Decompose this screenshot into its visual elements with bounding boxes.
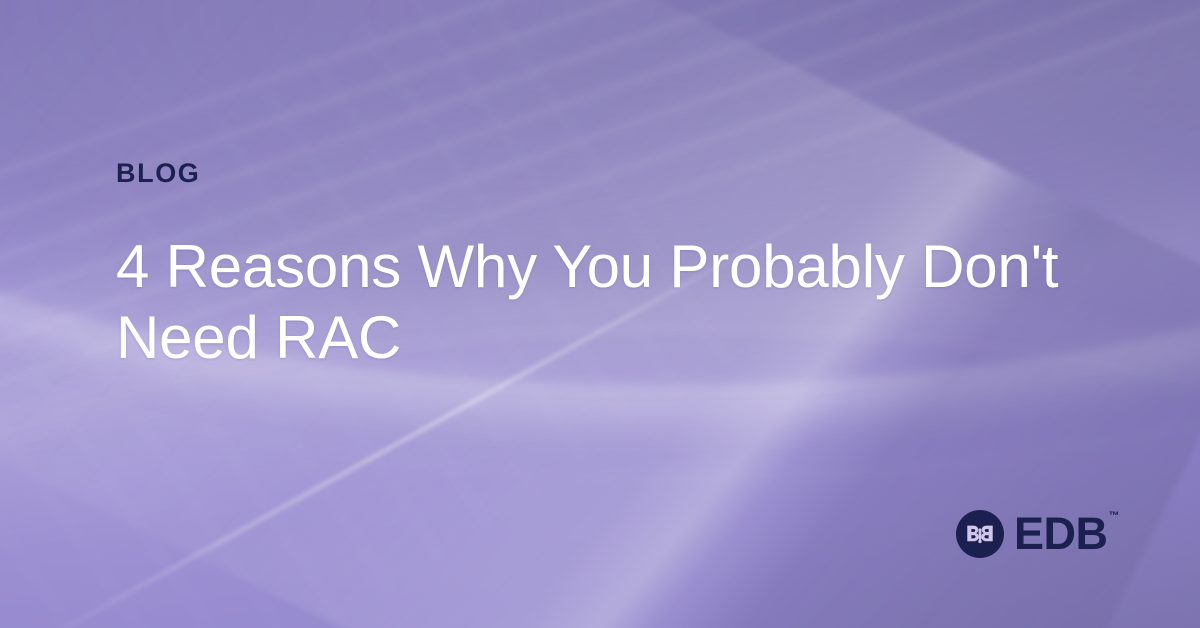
page-title: 4 Reasons Why You Probably Don't Need RA…	[116, 231, 1096, 373]
blog-social-banner: BLOG 4 Reasons Why You Probably Don't Ne…	[0, 0, 1200, 628]
edb-wordmark: EDB	[1014, 510, 1108, 558]
edb-elephant-mark	[956, 510, 1004, 558]
banner-content: BLOG 4 Reasons Why You Probably Don't Ne…	[116, 160, 1116, 373]
trademark-symbol: ™	[1109, 511, 1120, 522]
content-type-label: BLOG	[116, 160, 1116, 187]
edb-logo: EDB ™	[956, 510, 1108, 558]
